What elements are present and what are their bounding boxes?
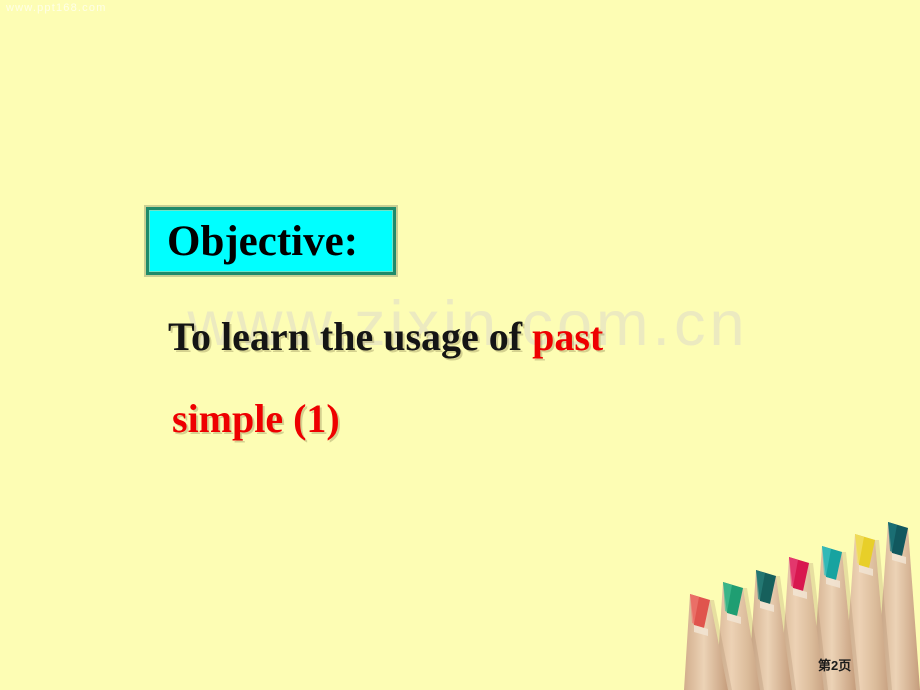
body-line-one-accent: past [532, 314, 603, 359]
pencil-shading [710, 540, 892, 690]
pencil-3 [748, 570, 792, 690]
body-line-one-prefix: To learn the usage of [168, 314, 532, 359]
body-text-block: To learn the usage of past simple (1) [168, 296, 868, 460]
top-left-watermark: www.ppt168.com [6, 2, 107, 14]
page-number-label: 第2页 [818, 655, 851, 674]
pencil-2 [716, 582, 760, 690]
body-line-one: To learn the usage of past [168, 296, 868, 378]
objective-title-box: Objective: [146, 207, 396, 275]
slide-canvas: www.ppt168.com www.zixin.com.cn Objectiv… [0, 0, 920, 690]
pencil-1 [684, 594, 728, 690]
objective-label: Objective: [149, 220, 358, 263]
colored-pencils-illustration [640, 500, 920, 690]
body-line-two: simple (1) [168, 378, 868, 460]
pencil-7 [876, 522, 920, 690]
